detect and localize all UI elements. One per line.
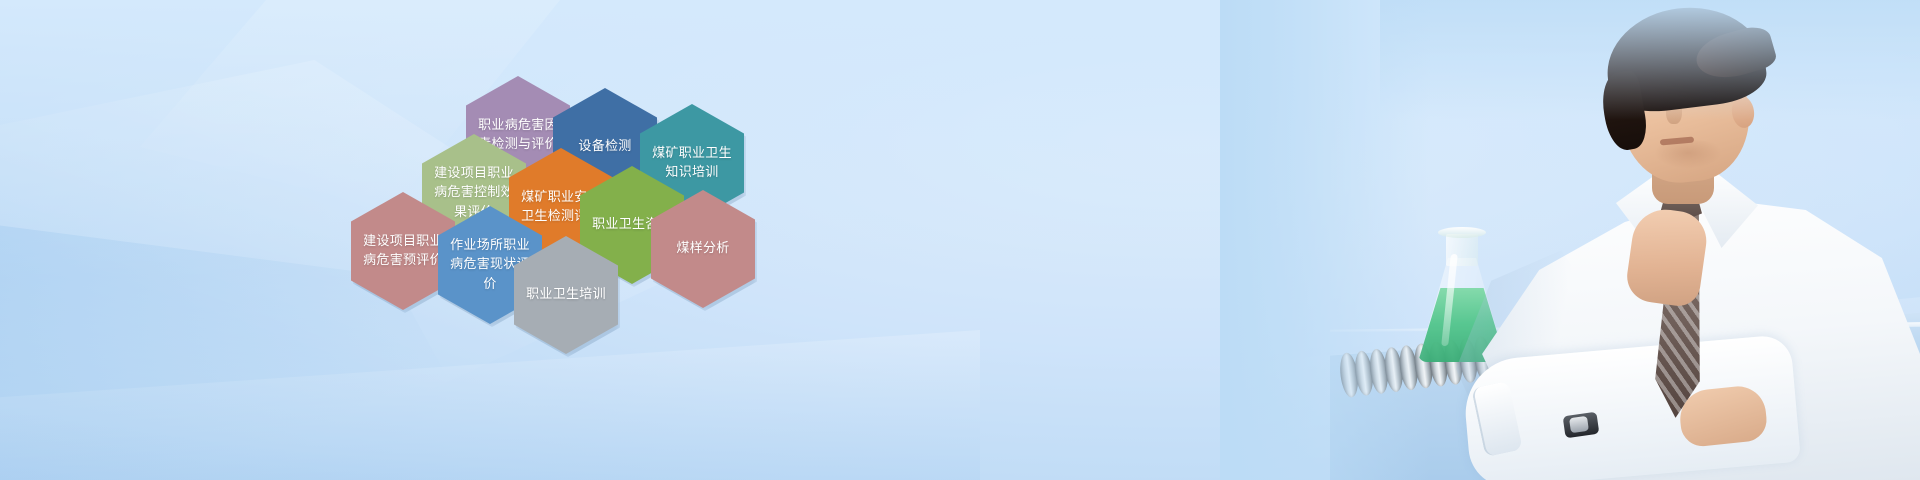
photo-top-fade <box>1380 0 1920 120</box>
hexagon-label: 建设项目职业病危害控制效果评价 <box>432 164 516 223</box>
photo-left-fade <box>1220 0 1430 480</box>
photo-businessman-with-flask <box>1220 0 1920 480</box>
service-hexagon-cluster: 职业病危害因素检测与评价设备检测煤矿职业卫生知识培训建设项目职业病危害控制效果评… <box>0 0 920 480</box>
hexagon-label: 职业卫生培训 <box>524 285 608 305</box>
hexagon-label: 煤样分析 <box>661 239 745 259</box>
hexagon-label: 建设项目职业病危害预评价 <box>361 232 445 271</box>
hexagon-label: 设备检测 <box>563 137 647 157</box>
hero-banner: 职业病危害因素检测与评价设备检测煤矿职业卫生知识培训建设项目职业病危害控制效果评… <box>0 0 1920 480</box>
hexagon-label: 煤矿职业卫生知识培训 <box>650 144 734 183</box>
wristwatch-face <box>1569 416 1589 433</box>
chin-shadow <box>1640 140 1736 172</box>
